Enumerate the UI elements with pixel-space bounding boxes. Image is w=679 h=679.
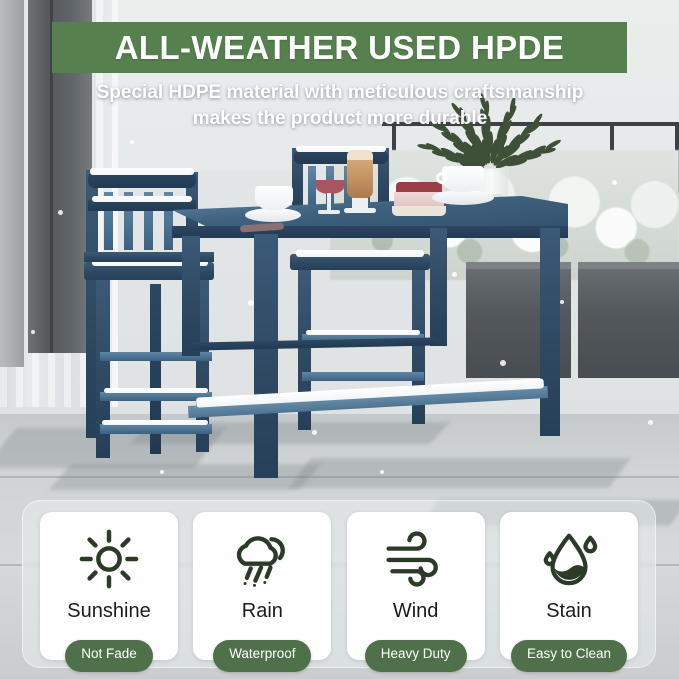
feature-label: Stain <box>546 600 592 622</box>
feature-label: Wind <box>393 600 439 622</box>
header-banner: ALL-WEATHER USED HPDE <box>52 22 627 73</box>
feature-card-rain[interactable]: Rain <box>193 512 331 660</box>
badge-heavy-duty: Heavy Duty <box>365 640 467 672</box>
badge-easy-to-clean: Easy to Clean <box>511 640 627 672</box>
feature-card-stain[interactable]: Stain <box>500 512 638 660</box>
feature-card-wind[interactable]: Wind <box>347 512 485 660</box>
page-title: ALL-WEATHER USED HPDE <box>115 29 565 67</box>
feature-badge-list: Not Fade Waterproof Heavy Duty Easy to C… <box>40 640 638 672</box>
feature-card-sunshine[interactable]: Sunshine <box>40 512 178 660</box>
subtitle-line-1: Special HDPE material with meticulous cr… <box>60 80 620 106</box>
rain-cloud-icon <box>230 512 294 600</box>
feature-card-list: Sunshine Rain Wind <box>40 512 638 660</box>
water-drop-icon <box>540 512 598 600</box>
badge-not-fade: Not Fade <box>65 640 153 672</box>
door-jamb <box>0 0 24 367</box>
feature-label: Rain <box>242 600 283 622</box>
feature-label: Sunshine <box>67 600 150 622</box>
subtitle: Special HDPE material with meticulous cr… <box>60 80 620 132</box>
wind-icon <box>383 512 449 600</box>
subtitle-line-2: makes the product more durable <box>60 106 620 132</box>
badge-waterproof: Waterproof <box>213 640 311 672</box>
sun-icon <box>78 512 140 600</box>
planter-box-2 <box>578 262 679 378</box>
